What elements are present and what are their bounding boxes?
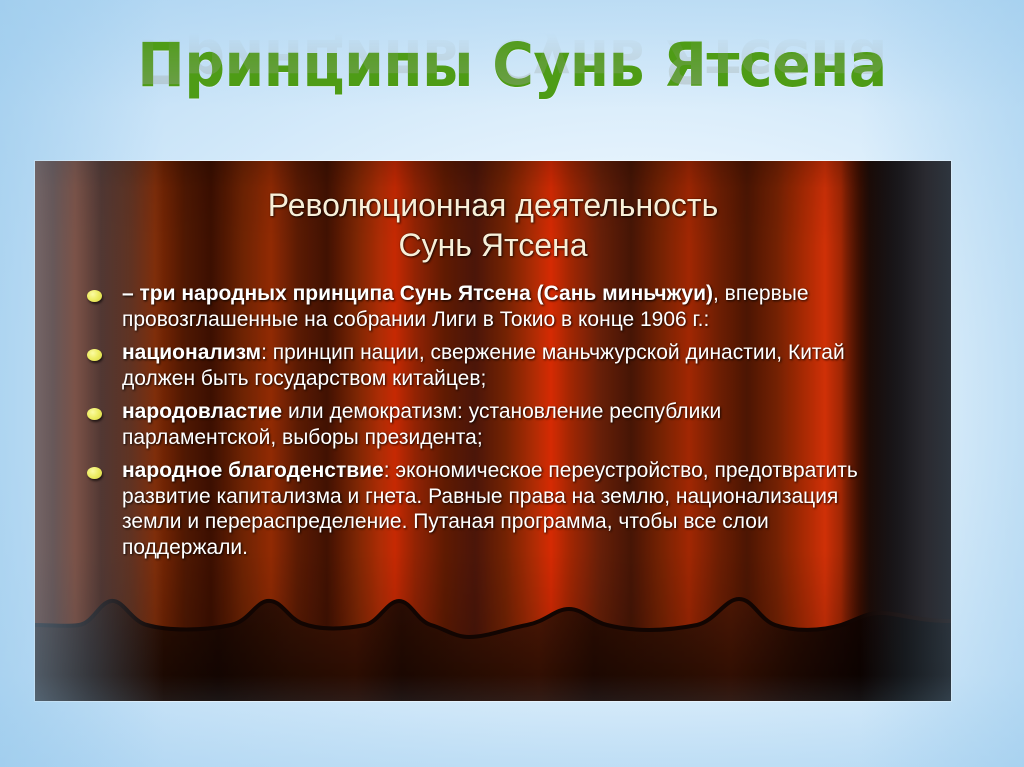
bullet-three-principles: – три народных принципа Сунь Ятсена (Сан… — [122, 282, 809, 331]
panel-heading-line-2: Сунь Ятсена — [75, 225, 911, 265]
bullet-democracy: народовластие или демократизм: установле… — [122, 400, 721, 449]
bullet-welfare: народное благоденствие: экономическое пе… — [122, 459, 858, 559]
bullet-list: – три народных принципа Сунь Ятсена (Сан… — [81, 281, 881, 568]
list-item: народовластие или демократизм: установле… — [81, 399, 881, 450]
bullet-text-bold: народное благоденствие — [122, 459, 384, 482]
slide: Принципы Сунь Ятсена Принципы Сунь Ятсен… — [0, 0, 1024, 767]
content-panel: Революционная деятельность Сунь Ятсена –… — [35, 161, 951, 701]
bullet-dot-icon — [87, 290, 102, 302]
bullet-text-bold: – три народных принципа Сунь Ятсена (Сан… — [122, 282, 713, 305]
list-item: национализм: принцип нации, свержение ма… — [81, 340, 881, 391]
bullet-dot-icon — [87, 467, 102, 479]
bullet-text-bold: национализм — [122, 341, 261, 364]
curtain-hem — [35, 581, 951, 701]
list-item: – три народных принципа Сунь Ятсена (Сан… — [81, 281, 881, 332]
panel-heading: Революционная деятельность Сунь Ятсена — [35, 185, 951, 265]
bullet-text-bold: народовластие — [122, 400, 282, 423]
bullet-dot-icon — [87, 408, 102, 420]
panel-heading-line-1: Революционная деятельность — [75, 185, 911, 225]
bullet-dot-icon — [87, 349, 102, 361]
curtain-skirt-shading — [35, 599, 951, 701]
list-item: народное благоденствие: экономическое пе… — [81, 458, 881, 560]
bullet-nationalism: национализм: принцип нации, свержение ма… — [122, 341, 845, 390]
curtain-hem-shape — [35, 581, 951, 701]
slide-title-block: Принципы Сунь Ятсена Принципы Сунь Ятсен… — [0, 34, 1024, 149]
page-title-reflection: Принципы Сунь Ятсена — [36, 28, 988, 92]
